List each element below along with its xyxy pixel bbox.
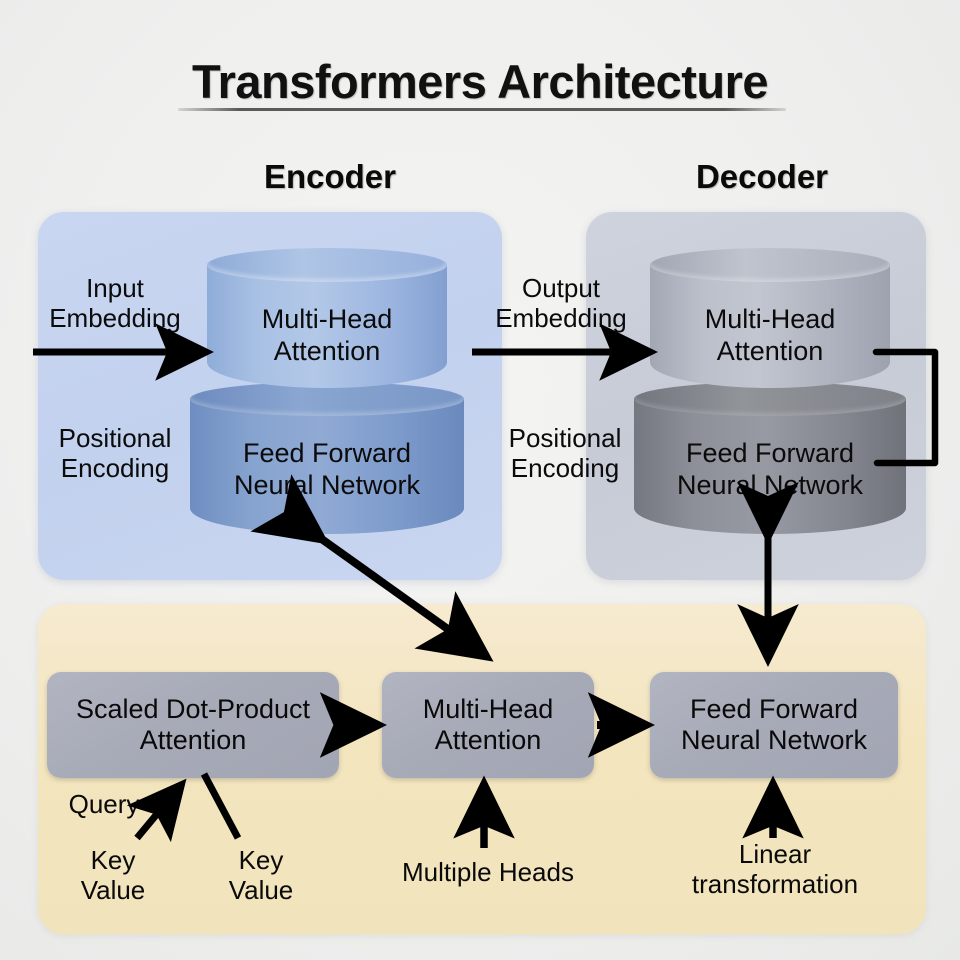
scaled-dot-product-attention-box[interactable]: Scaled Dot-Product Attention bbox=[47, 672, 339, 778]
encoder-feed-forward-label: Feed Forward Neural Network bbox=[190, 438, 464, 501]
decoder-feed-forward-label: Feed Forward Neural Network bbox=[634, 438, 906, 501]
decoder-positional-encoding-label: Positional Encoding bbox=[472, 424, 658, 483]
decoder-multi-head-label: Multi-Head Attention bbox=[650, 304, 890, 367]
encoder-multi-head-label: Multi-Head Attention bbox=[207, 304, 447, 367]
decoder-section-label: Decoder bbox=[676, 158, 848, 196]
title-underline bbox=[178, 108, 786, 111]
input-embedding-label: Input Embedding bbox=[26, 274, 204, 333]
scaled-dot-product-attention-label: Scaled Dot-Product Attention bbox=[76, 694, 310, 757]
decoder-multi-head-attention-cylinder[interactable]: Multi-Head Attention bbox=[650, 248, 890, 388]
detail-feed-forward-box[interactable]: Feed Forward Neural Network bbox=[650, 672, 898, 778]
linear-transformation-label: Linear transformation bbox=[656, 840, 894, 899]
detail-multi-head-attention-label: Multi-Head Attention bbox=[423, 694, 554, 757]
output-embedding-label: Output Embedding bbox=[468, 274, 654, 333]
diagram-canvas: Transformers Architecture Encoder Decode… bbox=[0, 0, 960, 960]
encoder-multi-head-attention-cylinder[interactable]: Multi-Head Attention bbox=[207, 248, 447, 388]
multiple-heads-label: Multiple Heads bbox=[368, 858, 608, 888]
detail-feed-forward-label: Feed Forward Neural Network bbox=[681, 694, 867, 757]
cylinder-top bbox=[207, 248, 447, 282]
key-value-left-label: Key Value bbox=[58, 846, 168, 905]
encoder-section-label: Encoder bbox=[244, 158, 416, 196]
cylinder-top bbox=[650, 248, 890, 282]
page-title: Transformers Architecture bbox=[0, 54, 960, 109]
key-value-right-label: Key Value bbox=[206, 846, 316, 905]
encoder-positional-encoding-label: Positional Encoding bbox=[22, 424, 208, 483]
encoder-feed-forward-cylinder[interactable]: Feed Forward Neural Network bbox=[190, 382, 464, 534]
decoder-feed-forward-cylinder[interactable]: Feed Forward Neural Network bbox=[634, 382, 906, 534]
query-label: Query bbox=[48, 790, 160, 820]
detail-multi-head-attention-box[interactable]: Multi-Head Attention bbox=[382, 672, 594, 778]
